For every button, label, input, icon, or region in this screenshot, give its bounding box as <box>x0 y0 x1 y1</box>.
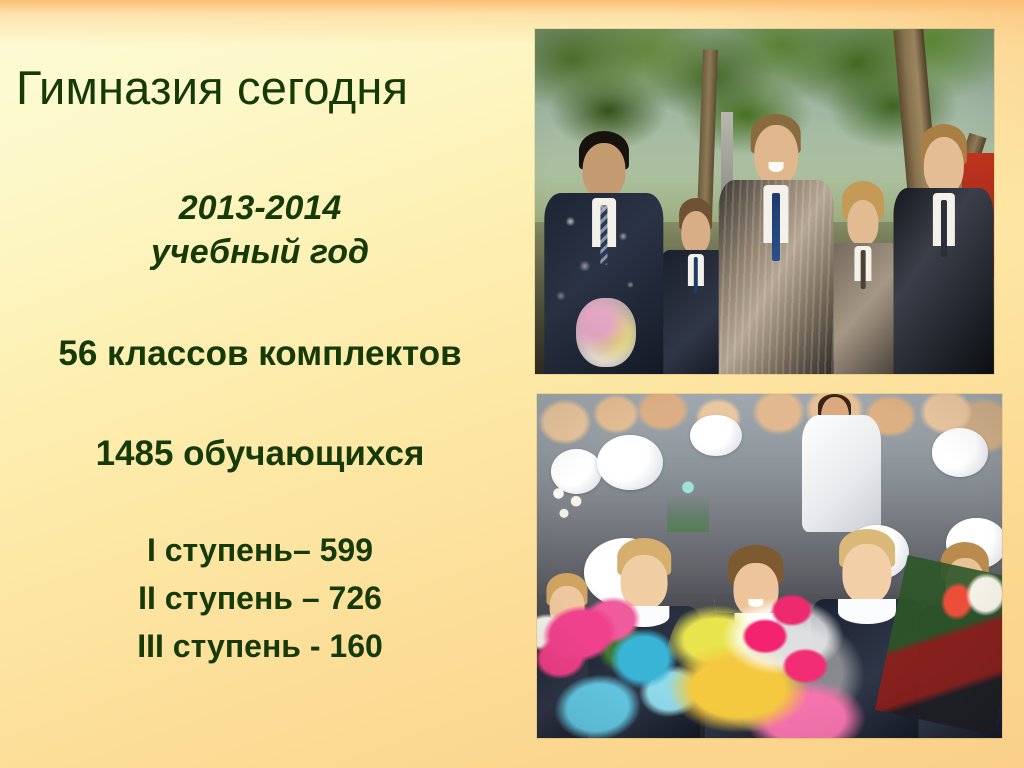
stat-total-students: 1485 обучающихся <box>0 434 520 474</box>
face <box>923 137 963 196</box>
photo-primary-pupils-with-flowers <box>537 394 1002 738</box>
stat-class-sets: 56 классов комплектов <box>0 334 520 374</box>
academic-year-block: 2013-2014 учебный год <box>0 186 520 274</box>
student-figure-third <box>719 112 834 374</box>
photo-teenage-students-in-park <box>535 29 994 374</box>
academic-year-line-2: учебный год <box>0 230 520 274</box>
necktie <box>940 200 946 256</box>
hair-bow-icon <box>690 415 741 456</box>
teacher-white-coat <box>802 415 881 532</box>
face <box>754 125 798 185</box>
page-title: Гимназия сегодня <box>16 60 506 115</box>
photo-kids-content <box>537 394 1002 738</box>
stage-item-3: III ступень - 160 <box>0 622 520 670</box>
teal-rose-bouquet <box>667 470 709 532</box>
face <box>848 200 879 246</box>
necktie <box>693 257 697 293</box>
hair-bow-icon <box>597 435 662 490</box>
hair-bow-icon <box>932 428 988 476</box>
necktie-blue <box>772 193 780 261</box>
bouquet-large-pink-yellow <box>667 573 890 738</box>
slide-canvas: Гимназия сегодня 2013-2014 учебный год 5… <box>0 0 1024 768</box>
flower-bouquet-small <box>576 298 636 367</box>
face <box>681 211 710 254</box>
stage-item-2: II ступень – 726 <box>0 574 520 622</box>
student-figure-fifth <box>893 119 994 374</box>
photo-teens-content <box>535 29 994 374</box>
academic-year-line-1: 2013-2014 <box>0 186 520 230</box>
necktie <box>861 250 866 289</box>
student-figure-fourth <box>824 181 902 374</box>
stages-breakdown-list: I ступень– 599 II ступень – 726 III ступ… <box>0 526 520 670</box>
stage-item-1: I ступень– 599 <box>0 526 520 574</box>
slide-text-column: Гимназия сегодня 2013-2014 учебный год 5… <box>0 0 520 768</box>
white-roses-bunch <box>542 477 598 532</box>
